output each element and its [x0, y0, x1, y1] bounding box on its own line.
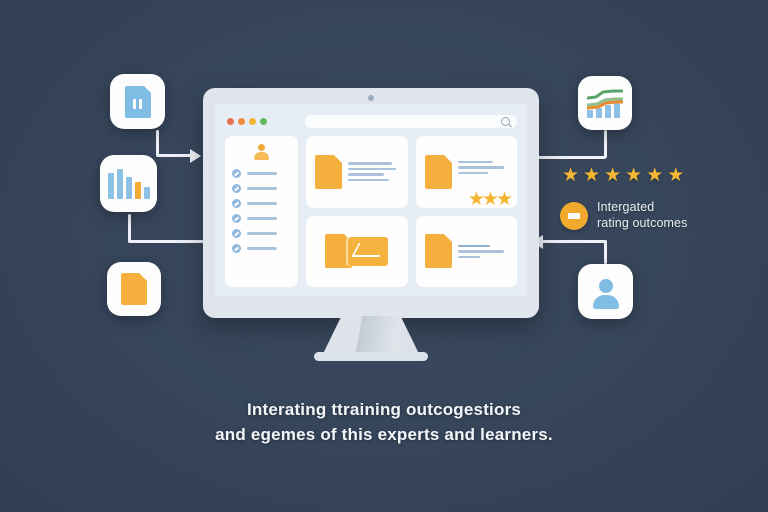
window-extra-dot[interactable]	[260, 118, 267, 125]
document-icon	[425, 234, 452, 268]
star-icon: ★	[562, 166, 579, 185]
document-text-lines	[458, 161, 509, 184]
webcam-icon	[368, 95, 374, 101]
caption-line-2: and egemes of this experts and learners.	[0, 423, 768, 448]
connector-chart-horizontal	[128, 240, 206, 243]
sidebar-item[interactable]	[232, 184, 291, 193]
rating-badge-label-line1: Intergated	[597, 200, 687, 216]
sidebar-item[interactable]	[232, 244, 291, 253]
connector-analytics-vertical	[604, 130, 607, 158]
sidebar-item[interactable]	[232, 169, 291, 178]
sidebar-item[interactable]	[232, 214, 291, 223]
caption: Interating ttraining outcogestiors and e…	[0, 398, 768, 447]
star-icon: ★	[625, 166, 642, 185]
illustration-canvas: ★ ★ ★	[0, 0, 768, 512]
monitor: ★ ★ ★	[203, 88, 539, 318]
rating-badge-label: Intergated rating outcomes	[597, 200, 687, 231]
check-circle-icon	[232, 244, 241, 253]
browser-chrome	[225, 113, 517, 129]
window-close-dot[interactable]	[227, 118, 234, 125]
search-icon	[501, 117, 510, 126]
check-circle-icon	[232, 184, 241, 193]
sidebar-item-label	[247, 172, 277, 175]
blue-document-icon	[125, 86, 151, 118]
sidebar-item-label	[247, 247, 277, 250]
sidebar-item-label	[247, 232, 277, 235]
app-body: ★ ★ ★	[225, 136, 517, 287]
check-circle-icon	[232, 214, 241, 223]
check-circle-icon	[232, 199, 241, 208]
document-text-lines	[458, 245, 509, 259]
orange-document-icon-card[interactable]	[107, 262, 161, 316]
document-text-lines	[348, 162, 399, 181]
envelope-icon	[348, 237, 388, 266]
document-text-card[interactable]	[416, 216, 518, 288]
sidebar-item-label	[247, 187, 277, 190]
sidebar-item[interactable]	[232, 229, 291, 238]
document-card[interactable]	[306, 136, 408, 208]
search-input[interactable]	[305, 115, 517, 128]
connector-user-horizontal	[542, 240, 606, 243]
star-rating: ★ ★ ★ ★ ★ ★	[562, 166, 684, 185]
sidebar-item-label	[247, 202, 277, 205]
card-star-rating: ★ ★ ★	[468, 190, 513, 208]
caption-line-1: Interating ttraining outcogestiors	[0, 398, 768, 423]
sidebar	[225, 136, 298, 287]
star-icon: ★	[496, 190, 513, 208]
sidebar-item[interactable]	[232, 199, 291, 208]
star-icon: ★	[583, 166, 600, 185]
user-avatar-icon	[253, 144, 270, 161]
user-profile-icon-card[interactable]	[578, 264, 633, 319]
check-circle-icon	[232, 229, 241, 238]
star-icon: ★	[667, 166, 684, 185]
monitor-screen: ★ ★ ★	[215, 104, 527, 296]
document-pause-icon-card[interactable]	[110, 74, 165, 129]
bar-chart-icon	[108, 169, 150, 199]
connector-document-arrowhead	[190, 149, 201, 163]
orange-document-icon	[121, 273, 147, 305]
analytics-chart-icon-card[interactable]	[578, 76, 632, 130]
window-minimize-dot[interactable]	[238, 118, 245, 125]
document-mail-card[interactable]	[306, 216, 408, 288]
connector-analytics-horizontal	[534, 156, 606, 159]
connector-user-vertical	[604, 240, 607, 264]
document-icon	[425, 155, 452, 189]
bar-chart-icon-card[interactable]	[100, 155, 157, 212]
window-maximize-dot[interactable]	[249, 118, 256, 125]
connector-document-vertical	[156, 130, 159, 156]
window-controls	[225, 118, 267, 125]
check-circle-icon	[232, 169, 241, 178]
rating-badge-label-line2: rating outcomes	[597, 216, 687, 232]
person-icon	[591, 277, 621, 307]
certificate-icon	[560, 202, 588, 230]
connector-chart-vertical	[128, 214, 131, 242]
rating-badge-row: Intergated rating outcomes	[560, 200, 687, 231]
star-icon: ★	[604, 166, 621, 185]
document-icon	[315, 155, 342, 189]
connector-document-horizontal	[156, 154, 192, 157]
content-grid: ★ ★ ★	[306, 136, 517, 287]
rated-document-card[interactable]: ★ ★ ★	[416, 136, 518, 208]
monitor-base	[314, 352, 428, 361]
star-icon: ★	[646, 166, 663, 185]
sidebar-item-label	[247, 217, 277, 220]
line-bar-chart-icon	[587, 88, 623, 118]
